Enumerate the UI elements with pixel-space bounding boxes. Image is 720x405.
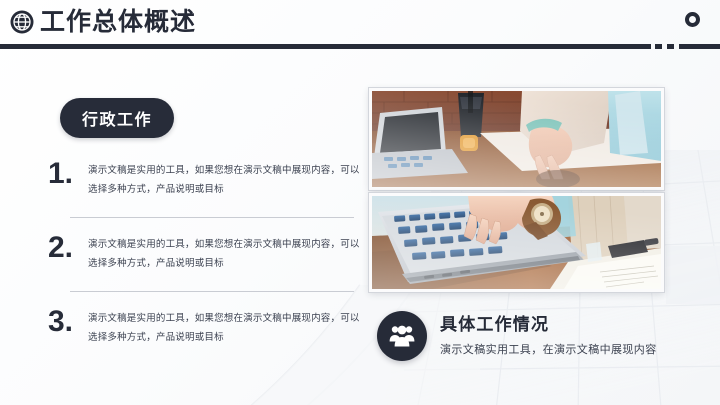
- photo-person-at-laptop-with-coffee: [369, 88, 664, 190]
- list-item-number: 2.: [44, 232, 88, 264]
- ring-icon: [685, 12, 700, 27]
- list-item-text: 演示文稿是实用的工具，如果您想在演示文稿中展现内容，可以选择多种方式，产品说明或…: [88, 158, 360, 199]
- bottom-section-heading: 具体工作情况: [440, 310, 549, 335]
- globe-icon: [9, 9, 35, 35]
- page-title: 工作总体概述: [40, 6, 196, 38]
- slide-header: 工作总体概述: [0, 0, 720, 52]
- header-rule-dot: [667, 44, 674, 49]
- people-group-icon-badge: [377, 311, 427, 361]
- list-item-number: 3.: [44, 306, 88, 338]
- list-divider: [70, 217, 354, 218]
- list-item: 3. 演示文稿是实用的工具，如果您想在演示文稿中展现内容，可以选择多种方式，产品…: [44, 306, 360, 350]
- list-item-number: 1.: [44, 158, 88, 190]
- header-rule-dot: [655, 44, 662, 49]
- section-badge: 行政工作: [60, 98, 174, 138]
- header-rule-right: [679, 44, 720, 49]
- list-item-text: 演示文稿是实用的工具，如果您想在演示文稿中展现内容，可以选择多种方式，产品说明或…: [88, 306, 360, 347]
- list-divider: [70, 291, 354, 292]
- list-item: 1. 演示文稿是实用的工具，如果您想在演示文稿中展现内容，可以选择多种方式，产品…: [44, 158, 360, 202]
- section-badge-label: 行政工作: [82, 112, 152, 129]
- bottom-section-subtitle: 演示文稿实用工具，在演示文稿中展现内容: [440, 341, 657, 357]
- photo-hands-typing-on-laptop: [369, 193, 664, 292]
- slide-canvas: 工作总体概述 行政工作 1. 演示文稿是实用的工具，如果您想在演示文稿中展现内容…: [0, 0, 720, 405]
- list-item-text: 演示文稿是实用的工具，如果您想在演示文稿中展现内容，可以选择多种方式，产品说明或…: [88, 232, 360, 273]
- numbered-list: 1. 演示文稿是实用的工具，如果您想在演示文稿中展现内容，可以选择多种方式，产品…: [44, 158, 360, 350]
- list-item: 2. 演示文稿是实用的工具，如果您想在演示文稿中展现内容，可以选择多种方式，产品…: [44, 232, 360, 276]
- people-group-icon: [389, 324, 415, 348]
- header-rule-left: [0, 44, 651, 49]
